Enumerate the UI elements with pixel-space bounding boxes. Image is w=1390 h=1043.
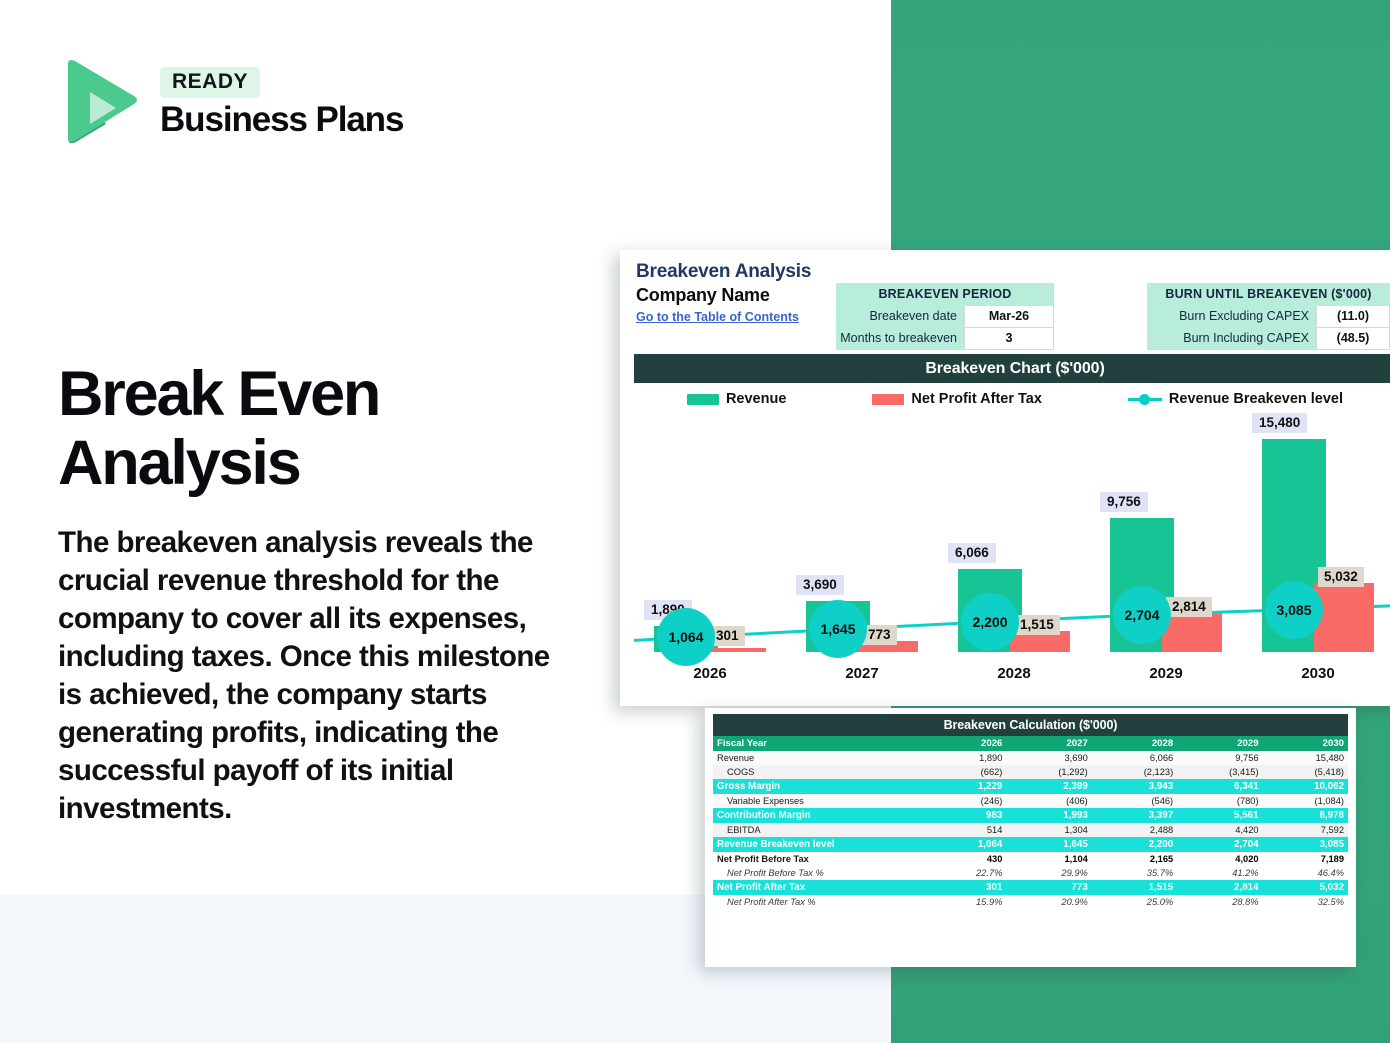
table-cell: 2,165 [1092, 852, 1177, 866]
table-cell: 2,704 [1177, 837, 1262, 852]
table-cell: 25.0% [1092, 895, 1177, 909]
breakeven-period-box: BREAKEVEN PERIOD Breakeven date Mar-26 M… [836, 283, 1054, 350]
revenue-value-label: 6,066 [948, 543, 996, 563]
table-cell: 430 [921, 852, 1006, 866]
table-col-header: 2030 [1263, 736, 1348, 751]
table-cell: 32.5% [1263, 895, 1348, 909]
x-axis-label: 2027 [786, 665, 938, 682]
table-cell: 1,064 [921, 837, 1006, 852]
x-axis-label: 2029 [1090, 665, 1242, 682]
table-cell: 3,085 [1263, 837, 1348, 852]
table-row-label: Revenue [713, 751, 921, 765]
table-row: Revenue Breakeven level1,0641,6452,2002,… [713, 837, 1348, 852]
npat-value-label: 1,515 [1014, 615, 1060, 635]
table-cell: 983 [921, 808, 1006, 823]
table-cell: 1,515 [1092, 880, 1177, 895]
page-description: The breakeven analysis reveals the cruci… [58, 524, 558, 828]
chart-group-2027: 3,6907731,645 [786, 436, 938, 652]
breakeven-calculation-card: Breakeven Calculation ($'000) Fiscal Yea… [705, 708, 1356, 967]
table-cell: (662) [921, 765, 1006, 779]
npat-value-label: 773 [862, 625, 897, 645]
net-profit-after-tax-bar[interactable] [1314, 583, 1374, 652]
burn-excluding-capex-value[interactable]: (11.0) [1316, 306, 1390, 328]
table-row-label: Net Profit After Tax [713, 880, 921, 895]
table-row: Revenue1,8903,6906,0669,75615,480 [713, 751, 1348, 765]
months-to-breakeven-row: Months to breakeven 3 [836, 328, 1054, 350]
breakeven-level-marker[interactable]: 1,064 [657, 608, 715, 666]
burn-including-capex-value[interactable]: (48.5) [1316, 328, 1390, 350]
table-cell: 8,978 [1263, 808, 1348, 823]
table-cell: 22.7% [921, 866, 1006, 880]
legend-swatch-npat [872, 394, 904, 405]
page-title: Break Even Analysis [58, 360, 578, 497]
table-cell: 10,062 [1263, 779, 1348, 794]
table-body: Revenue1,8903,6906,0669,75615,480COGS(66… [713, 751, 1348, 909]
table-row-label: Net Profit Before Tax % [713, 866, 921, 880]
table-row-label: Net Profit Before Tax [713, 852, 921, 866]
table-row: Net Profit After Tax %15.9%20.9%25.0%28.… [713, 895, 1348, 909]
table-cell: (2,123) [1092, 765, 1177, 779]
table-cell: 3,690 [1006, 751, 1091, 765]
legend-item-revenue[interactable]: Revenue [687, 391, 786, 407]
table-of-contents-link[interactable]: Go to the Table of Contents [636, 310, 799, 324]
table-cell: 20.9% [1006, 895, 1091, 909]
table-row-label: Revenue Breakeven level [713, 837, 921, 852]
breakeven-level-marker[interactable]: 2,704 [1113, 586, 1171, 644]
table-cell: (406) [1006, 794, 1091, 808]
table-cell: 2,399 [1006, 779, 1091, 794]
legend-swatch-revenue [687, 394, 719, 405]
table-cell: 2,200 [1092, 837, 1177, 852]
table-row: Gross Margin1,2292,3993,9436,34110,062 [713, 779, 1348, 794]
table-row: COGS(662)(1,292)(2,123)(3,415)(5,418) [713, 765, 1348, 779]
table-cell: 2,814 [1177, 880, 1262, 895]
chart-group-2028: 6,0661,5152,200 [938, 436, 1090, 652]
table-cell: 1,645 [1006, 837, 1091, 852]
chart-group-2029: 9,7562,8142,704 [1090, 436, 1242, 652]
table-header-row: Fiscal Year20262027202820292030 [713, 736, 1348, 751]
table-row-label: Variable Expenses [713, 794, 921, 808]
company-name: Company Name [636, 284, 811, 307]
table-row-label: Contribution Margin [713, 808, 921, 823]
table-cell: 15.9% [921, 895, 1006, 909]
table-row: Net Profit Before Tax4301,1042,1654,0207… [713, 852, 1348, 866]
table-cell: 3,397 [1092, 808, 1177, 823]
table-cell: 1,993 [1006, 808, 1091, 823]
breakeven-date-label: Breakeven date [836, 306, 964, 328]
table-cell: 3,943 [1092, 779, 1177, 794]
table-title-banner: Breakeven Calculation ($'000) [713, 714, 1348, 736]
table-cell: (3,415) [1177, 765, 1262, 779]
table-cell: 301 [921, 880, 1006, 895]
table-row: Variable Expenses(246)(406)(546)(780)(1,… [713, 794, 1348, 808]
chart-title-banner: Breakeven Chart ($'000) [634, 354, 1390, 383]
revenue-value-label: 9,756 [1100, 492, 1148, 512]
chart-group-2026: 1,8903011,064 [634, 436, 786, 652]
breakeven-level-marker[interactable]: 2,200 [961, 593, 1019, 651]
table-cell: 41.2% [1177, 866, 1262, 880]
table-row: Contribution Margin9831,9933,3975,5618,9… [713, 808, 1348, 823]
table-cell: 1,304 [1006, 823, 1091, 837]
table-cell: (246) [921, 794, 1006, 808]
net-profit-after-tax-bar[interactable] [1162, 613, 1222, 652]
table-cell: 9,756 [1177, 751, 1262, 765]
months-to-breakeven-value[interactable]: 3 [964, 328, 1054, 350]
table-cell: 514 [921, 823, 1006, 837]
table-cell: 7,189 [1263, 852, 1348, 866]
brand-name: Business Plans [160, 102, 403, 137]
legend-label-breakeven: Revenue Breakeven level [1169, 391, 1343, 407]
x-axis-label: 2028 [938, 665, 1090, 682]
table-row-label: Net Profit After Tax % [713, 895, 921, 909]
table-row-label: EBITDA [713, 823, 921, 837]
npat-value-label: 301 [710, 626, 745, 646]
breakeven-level-marker[interactable]: 1,645 [809, 600, 867, 658]
legend-item-breakeven[interactable]: Revenue Breakeven level [1128, 391, 1343, 407]
table-col-header: 2028 [1092, 736, 1177, 751]
revenue-value-label: 3,690 [796, 575, 844, 595]
table-cell: 1,229 [921, 779, 1006, 794]
burn-excluding-capex-row: Burn Excluding CAPEX (11.0) [1147, 306, 1390, 328]
table-cell: 4,020 [1177, 852, 1262, 866]
net-profit-after-tax-bar[interactable] [706, 648, 766, 652]
burn-header: BURN UNTIL BREAKEVEN ($'000) [1147, 283, 1390, 306]
table-cell: (1,084) [1263, 794, 1348, 808]
table-cell: (780) [1177, 794, 1262, 808]
table-cell: 1,104 [1006, 852, 1091, 866]
breakeven-date-value[interactable]: Mar-26 [964, 306, 1054, 328]
table-cell: 6,341 [1177, 779, 1262, 794]
burn-until-breakeven-box: BURN UNTIL BREAKEVEN ($'000) Burn Exclud… [1147, 283, 1390, 350]
table-col-header: 2029 [1177, 736, 1262, 751]
burn-including-capex-row: Burn Including CAPEX (48.5) [1147, 328, 1390, 350]
months-to-breakeven-label: Months to breakeven [836, 328, 964, 350]
table-cell: 35.7% [1092, 866, 1177, 880]
play-triangle-logo-icon [60, 58, 142, 146]
table-cell: 773 [1006, 880, 1091, 895]
legend-marker-breakeven-line-icon [1128, 394, 1162, 405]
table-col-header: 2026 [921, 736, 1006, 751]
burn-excluding-capex-label: Burn Excluding CAPEX [1147, 306, 1316, 328]
table-cell: 5,032 [1263, 880, 1348, 895]
table-cell: 28.8% [1177, 895, 1262, 909]
table-cell: 6,066 [1092, 751, 1177, 765]
legend-label-npat: Net Profit After Tax [911, 391, 1042, 407]
burn-including-capex-label: Burn Including CAPEX [1147, 328, 1316, 350]
table-cell: 1,890 [921, 751, 1006, 765]
npat-value-label: 2,814 [1166, 597, 1212, 617]
revenue-value-label: 15,480 [1252, 413, 1307, 433]
table-col-header: Fiscal Year [713, 736, 921, 751]
x-axis-label: 2026 [634, 665, 786, 682]
table-cell: (1,292) [1006, 765, 1091, 779]
table-cell: 15,480 [1263, 751, 1348, 765]
breakeven-period-header: BREAKEVEN PERIOD [836, 283, 1054, 306]
table-cell: (5,418) [1263, 765, 1348, 779]
chart-plot-area: 20261,8903011,06420273,6907731,64520286,… [634, 420, 1390, 688]
table-cell: 2,488 [1092, 823, 1177, 837]
table-row-label: Gross Margin [713, 779, 921, 794]
breakeven-level-marker[interactable]: 3,085 [1265, 581, 1323, 639]
table-cell: 7,592 [1263, 823, 1348, 837]
table-row: Net Profit Before Tax %22.7%29.9%35.7%41… [713, 866, 1348, 880]
table-cell: 4,420 [1177, 823, 1262, 837]
npat-value-label: 5,032 [1318, 567, 1364, 587]
ready-badge: READY [160, 67, 260, 98]
sheet-title: Breakeven Analysis [636, 260, 811, 284]
table-cell: 5,561 [1177, 808, 1262, 823]
table-col-header: 2027 [1006, 736, 1091, 751]
breakeven-date-row: Breakeven date Mar-26 [836, 306, 1054, 328]
table-cell: 46.4% [1263, 866, 1348, 880]
brand-logo[interactable]: READY Business Plans [60, 58, 403, 146]
chart-legend: Revenue Net Profit After Tax Revenue Bre… [634, 386, 1390, 412]
table-row: Net Profit After Tax3017731,5152,8145,03… [713, 880, 1348, 895]
table-cell: (546) [1092, 794, 1177, 808]
breakeven-calculation-table: Fiscal Year20262027202820292030 Revenue1… [713, 736, 1348, 909]
table-cell: 29.9% [1006, 866, 1091, 880]
chart-group-2030: 15,4805,0323,085 [1242, 436, 1390, 652]
table-row: EBITDA5141,3042,4884,4207,592 [713, 823, 1348, 837]
table-row-label: COGS [713, 765, 921, 779]
legend-item-npat[interactable]: Net Profit After Tax [872, 391, 1042, 407]
x-axis-label: 2030 [1242, 665, 1390, 682]
legend-label-revenue: Revenue [726, 391, 786, 407]
